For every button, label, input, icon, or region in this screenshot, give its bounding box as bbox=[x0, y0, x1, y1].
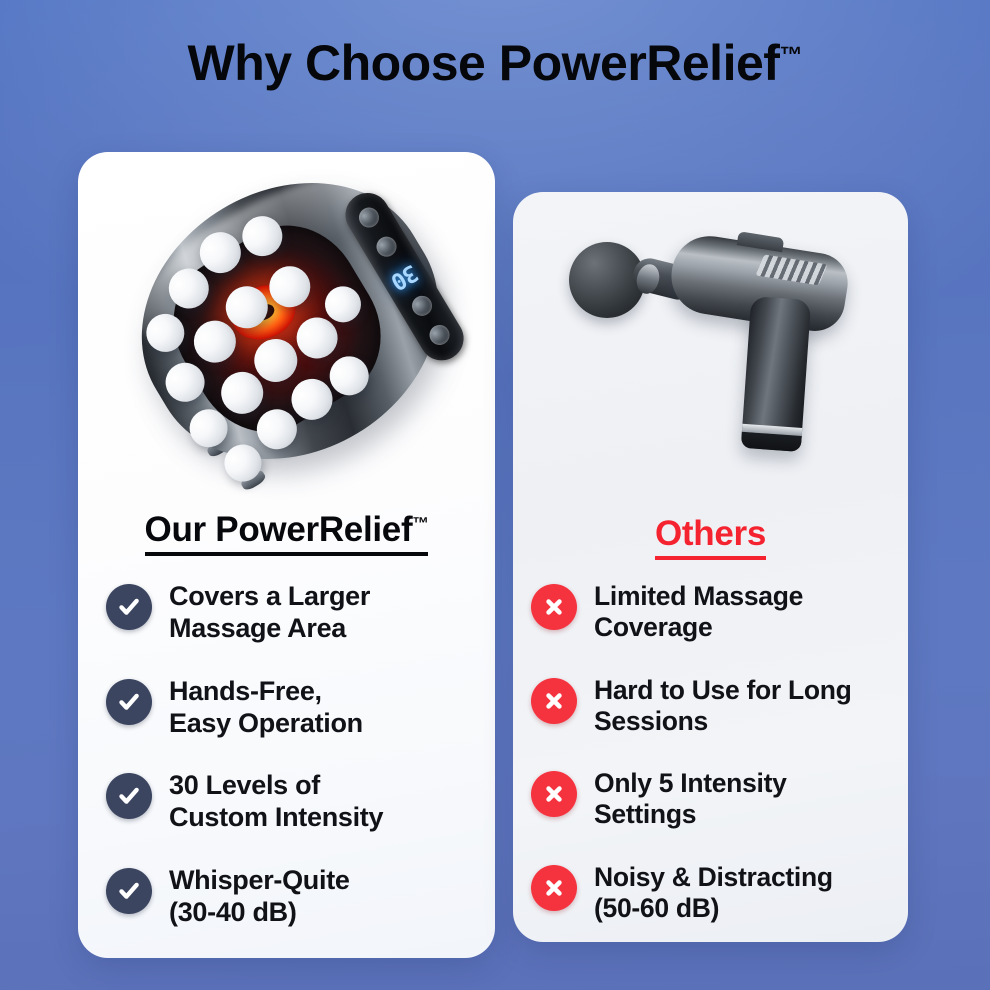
list-item: Limited Massage Coverage bbox=[531, 580, 894, 644]
list-item-line: Covers a Larger bbox=[169, 581, 370, 613]
list-item-label: Hands-Free, Easy Operation bbox=[169, 675, 363, 740]
gun-handle bbox=[741, 296, 811, 452]
list-item-label: 30 Levels of Custom Intensity bbox=[169, 769, 383, 834]
list-item-line: Hard to Use for Long bbox=[594, 675, 852, 706]
gun-top-nub bbox=[737, 231, 785, 252]
list-item-line: Noisy & Distracting bbox=[594, 862, 833, 893]
power-button-icon[interactable] bbox=[355, 204, 382, 231]
heading-others-text: Others bbox=[655, 514, 766, 560]
list-item-label: Hard to Use for Long Sessions bbox=[594, 674, 852, 738]
list-item: Whisper-Quite (30-40 dB) bbox=[106, 864, 475, 929]
list-item-line: Sessions bbox=[594, 706, 852, 737]
list-item: Only 5 Intensity Settings bbox=[531, 767, 894, 831]
cross-icon bbox=[531, 865, 577, 911]
list-item-line: Whisper-Quite bbox=[169, 865, 350, 897]
heat-button-icon[interactable] bbox=[372, 233, 399, 260]
list-item-label: Covers a Larger Massage Area bbox=[169, 580, 370, 645]
heading-ours-text: Our PowerRelief bbox=[145, 510, 413, 549]
list-item-label: Limited Massage Coverage bbox=[594, 580, 803, 644]
list-item-line: (30-40 dB) bbox=[169, 897, 350, 929]
card-ours: 30 bbox=[78, 152, 495, 958]
check-icon bbox=[106, 584, 152, 630]
trademark-symbol: ™ bbox=[412, 514, 428, 532]
list-item: Hard to Use for Long Sessions bbox=[531, 674, 894, 738]
list-item-line: 30 Levels of bbox=[169, 770, 383, 802]
comparison-infographic: Why Choose PowerRelief™ 30 bbox=[0, 0, 990, 990]
trademark-symbol: ™ bbox=[779, 41, 802, 67]
product-image-massage-gun bbox=[513, 192, 908, 492]
list-item-line: Custom Intensity bbox=[169, 802, 383, 834]
card-others: Others Limited Massage Coverage Hard to … bbox=[513, 192, 908, 942]
intensity-led-display: 30 bbox=[387, 260, 421, 293]
list-item-line: Coverage bbox=[594, 612, 803, 643]
heading-others: Others bbox=[513, 514, 908, 554]
page-title: Why Choose PowerRelief™ bbox=[0, 36, 990, 91]
heading-ours: Our PowerRelief™ bbox=[78, 510, 495, 550]
cross-icon bbox=[531, 678, 577, 724]
list-item-label: Noisy & Distracting (50-60 dB) bbox=[594, 861, 833, 925]
list-item-line: Settings bbox=[594, 799, 787, 830]
feature-list-others: Limited Massage Coverage Hard to Use for… bbox=[513, 580, 908, 942]
list-item-line: Limited Massage bbox=[594, 581, 803, 612]
check-icon bbox=[106, 679, 152, 725]
list-item-line: Massage Area bbox=[169, 613, 370, 645]
massager-body: 30 bbox=[94, 152, 486, 511]
list-item-line: (50-60 dB) bbox=[594, 893, 833, 924]
gun-vents bbox=[755, 254, 827, 285]
list-item: Noisy & Distracting (50-60 dB) bbox=[531, 861, 894, 925]
list-item: Covers a Larger Massage Area bbox=[106, 580, 475, 645]
check-icon bbox=[106, 868, 152, 914]
page-title-text: Why Choose PowerRelief bbox=[188, 35, 780, 91]
check-icon bbox=[106, 773, 152, 819]
cross-icon bbox=[531, 771, 577, 817]
product-image-powerrelief: 30 bbox=[78, 152, 495, 497]
mode-button-icon[interactable] bbox=[408, 293, 435, 320]
cross-icon bbox=[531, 584, 577, 630]
list-item: 30 Levels of Custom Intensity bbox=[106, 769, 475, 834]
speed-button-icon[interactable] bbox=[425, 321, 452, 348]
list-item-label: Whisper-Quite (30-40 dB) bbox=[169, 864, 350, 929]
list-item-line: Only 5 Intensity bbox=[594, 768, 787, 799]
list-item-line: Easy Operation bbox=[169, 708, 363, 740]
list-item: Hands-Free, Easy Operation bbox=[106, 675, 475, 740]
feature-list-ours: Covers a Larger Massage Area Hands-Free,… bbox=[78, 580, 495, 958]
list-item-label: Only 5 Intensity Settings bbox=[594, 767, 787, 831]
list-item-line: Hands-Free, bbox=[169, 676, 363, 708]
